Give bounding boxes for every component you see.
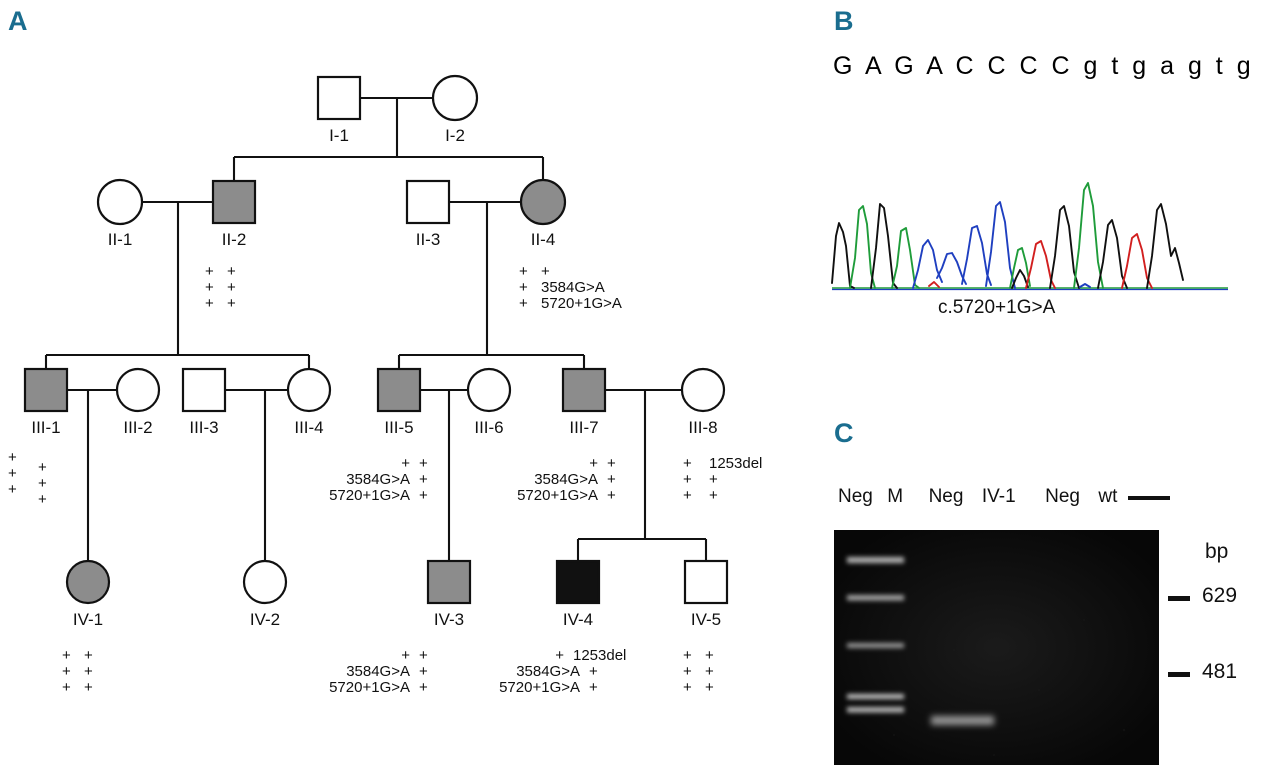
allele-b: + bbox=[38, 475, 47, 492]
allele-b: + bbox=[705, 680, 727, 696]
allele-b: + bbox=[84, 648, 106, 664]
allele-b: + bbox=[705, 664, 727, 680]
symbol-I-1 bbox=[318, 77, 360, 119]
genotype-block-II-2: ++ ++ ++ bbox=[205, 264, 249, 312]
ped-label-II-3: II-3 bbox=[416, 231, 441, 248]
allele-b: + bbox=[598, 472, 628, 488]
marker-tick-481 bbox=[1168, 672, 1190, 677]
allele-b: + bbox=[227, 296, 249, 312]
ped-label-III-5: III-5 bbox=[384, 419, 413, 436]
figure-root: A bbox=[0, 0, 1280, 767]
ped-label-I-2: I-2 bbox=[445, 127, 465, 144]
allele-a: 3584G>A bbox=[524, 472, 598, 488]
allele-b: + bbox=[410, 648, 440, 664]
allele-b: + bbox=[709, 487, 718, 504]
allele-a: + bbox=[8, 450, 38, 466]
allele-b: 3584G>A bbox=[541, 279, 605, 296]
genotype-block-III-1: ++ ++ ++ bbox=[8, 450, 47, 498]
symbol-II-2 bbox=[213, 181, 255, 223]
genotype-block-IV-1: ++ ++ ++ bbox=[62, 648, 106, 696]
gel-image bbox=[834, 530, 1159, 765]
allele-b: + bbox=[541, 263, 550, 280]
allele-a: + bbox=[205, 280, 227, 296]
symbol-III-8 bbox=[682, 369, 724, 411]
ped-label-IV-4: IV-4 bbox=[563, 611, 593, 628]
symbol-III-3 bbox=[183, 369, 225, 411]
symbol-III-6 bbox=[468, 369, 510, 411]
allele-b: + bbox=[410, 456, 440, 472]
gel-panel: Neg M Neg IV-1 Neg wt bbox=[810, 400, 1280, 767]
genotype-block-III-5: ++ 3584G>A+ 5720+1G>A+ bbox=[320, 456, 440, 504]
ped-label-IV-3: IV-3 bbox=[434, 611, 464, 628]
ped-label-II-1: II-1 bbox=[108, 231, 133, 248]
gel-lane-label-neg2: Neg bbox=[929, 486, 977, 508]
ped-label-III-4: III-4 bbox=[294, 419, 323, 436]
gel-lane-label-row: Neg M Neg IV-1 Neg wt bbox=[838, 486, 1132, 508]
ped-label-I-1: I-1 bbox=[329, 127, 349, 144]
ped-label-III-1: III-1 bbox=[31, 419, 60, 436]
allele-a: 5720+1G>A bbox=[517, 488, 598, 504]
genotype-block-IV-5: ++ ++ ++ bbox=[683, 648, 727, 696]
allele-a: + bbox=[336, 648, 410, 664]
ped-label-II-4: II-4 bbox=[531, 231, 556, 248]
allele-b: + bbox=[227, 264, 249, 280]
genotype-block-II-4: ++ +3584G>A +5720+1G>A bbox=[519, 264, 622, 312]
sequence-text: G A G A C C C C g t g a g t g bbox=[833, 52, 1254, 81]
allele-a: + bbox=[683, 456, 709, 472]
genotype-block-IV-3: ++ 3584G>A+ 5720+1G>A+ bbox=[320, 648, 440, 696]
marker-label-481: 481 bbox=[1202, 660, 1237, 684]
allele-a: 3584G>A bbox=[506, 664, 580, 680]
allele-a: + bbox=[683, 664, 705, 680]
symbol-I-2 bbox=[433, 76, 477, 120]
allele-a: + bbox=[62, 648, 84, 664]
allele-b: + bbox=[38, 491, 47, 508]
symbol-III-4 bbox=[288, 369, 330, 411]
gel-lane-label-neg1: Neg bbox=[838, 486, 882, 508]
symbol-IV-4 bbox=[557, 561, 599, 603]
chromatogram-panel: G A G A C C C C g t g a g t g bbox=[810, 0, 1280, 400]
ped-label-III-7: III-7 bbox=[569, 419, 598, 436]
symbol-II-4 bbox=[521, 180, 565, 224]
allele-a: + bbox=[524, 456, 598, 472]
allele-a: + bbox=[205, 264, 227, 280]
ped-label-IV-1: IV-1 bbox=[73, 611, 103, 628]
allele-a: + bbox=[683, 472, 709, 488]
allele-a: + bbox=[62, 680, 84, 696]
allele-b: 1253del bbox=[709, 455, 762, 472]
gel-lane-label-iv1: IV-1 bbox=[982, 486, 1040, 508]
allele-b: + bbox=[705, 648, 727, 664]
ped-label-IV-2: IV-2 bbox=[250, 611, 280, 628]
allele-b: + bbox=[598, 456, 628, 472]
ped-label-IV-5: IV-5 bbox=[691, 611, 721, 628]
allele-a: + bbox=[8, 466, 38, 482]
symbol-III-2 bbox=[117, 369, 159, 411]
ped-label-III-8: III-8 bbox=[688, 419, 717, 436]
symbol-II-1 bbox=[98, 180, 142, 224]
ped-label-III-6: III-6 bbox=[474, 419, 503, 436]
allele-a: + bbox=[519, 264, 541, 280]
gel-lane-label-neg3: Neg bbox=[1045, 486, 1093, 508]
genotype-block-IV-4: +1253del 3584G>A+ 5720+1G>A+ bbox=[490, 648, 610, 696]
allele-a: + bbox=[519, 280, 541, 296]
ped-label-III-3: III-3 bbox=[189, 419, 218, 436]
pedigree-chart: I-1 I-2 II-1 II-2 II-3 II-4 III-1 III-2 … bbox=[0, 0, 810, 767]
allele-b: + bbox=[84, 664, 106, 680]
allele-a: + bbox=[336, 456, 410, 472]
gel-axis-title: bp bbox=[1205, 540, 1228, 564]
allele-a: + bbox=[683, 648, 705, 664]
allele-b: + bbox=[410, 664, 440, 680]
allele-a: + bbox=[490, 648, 564, 664]
allele-b: + bbox=[227, 280, 249, 296]
symbol-IV-5 bbox=[685, 561, 727, 603]
allele-b: + bbox=[580, 664, 610, 680]
symbol-III-7 bbox=[563, 369, 605, 411]
allele-a: 5720+1G>A bbox=[329, 488, 410, 504]
allele-a: + bbox=[8, 482, 38, 498]
symbol-III-1 bbox=[25, 369, 67, 411]
chromatogram-caption: c.5720+1G>A bbox=[938, 297, 1055, 319]
allele-b: + bbox=[598, 488, 628, 504]
chromatogram-trace bbox=[830, 128, 1230, 293]
symbol-IV-1 bbox=[67, 561, 109, 603]
symbol-IV-3 bbox=[428, 561, 470, 603]
allele-b: + bbox=[580, 680, 610, 696]
ped-label-III-2: III-2 bbox=[123, 419, 152, 436]
allele-a: + bbox=[519, 296, 541, 312]
genotype-block-III-8: +1253del ++ ++ bbox=[683, 456, 762, 504]
marker-label-629: 629 bbox=[1202, 584, 1237, 608]
allele-a: + bbox=[62, 664, 84, 680]
legend-dash-icon bbox=[1128, 496, 1170, 500]
genotype-block-III-7: ++ 3584G>A+ 5720+1G>A+ bbox=[508, 456, 628, 504]
gel-lane-label-m: M bbox=[887, 486, 923, 508]
allele-b: + bbox=[84, 680, 106, 696]
allele-a: + bbox=[683, 488, 709, 504]
allele-b: + bbox=[410, 680, 440, 696]
allele-a: + bbox=[683, 680, 705, 696]
ped-label-II-2: II-2 bbox=[222, 231, 247, 248]
allele-b: + bbox=[410, 488, 440, 504]
allele-b: 5720+1G>A bbox=[541, 295, 622, 312]
allele-a: 3584G>A bbox=[336, 472, 410, 488]
allele-a: 3584G>A bbox=[336, 664, 410, 680]
allele-b: + bbox=[709, 471, 718, 488]
allele-b: + bbox=[410, 472, 440, 488]
allele-a: 5720+1G>A bbox=[329, 680, 410, 696]
allele-b: + bbox=[38, 459, 47, 476]
symbol-IV-2 bbox=[244, 561, 286, 603]
allele-a: 5720+1G>A bbox=[499, 680, 580, 696]
symbol-III-5 bbox=[378, 369, 420, 411]
symbol-II-3 bbox=[407, 181, 449, 223]
allele-a: + bbox=[205, 296, 227, 312]
marker-tick-629 bbox=[1168, 596, 1190, 601]
allele-b: 1253del bbox=[564, 648, 626, 664]
